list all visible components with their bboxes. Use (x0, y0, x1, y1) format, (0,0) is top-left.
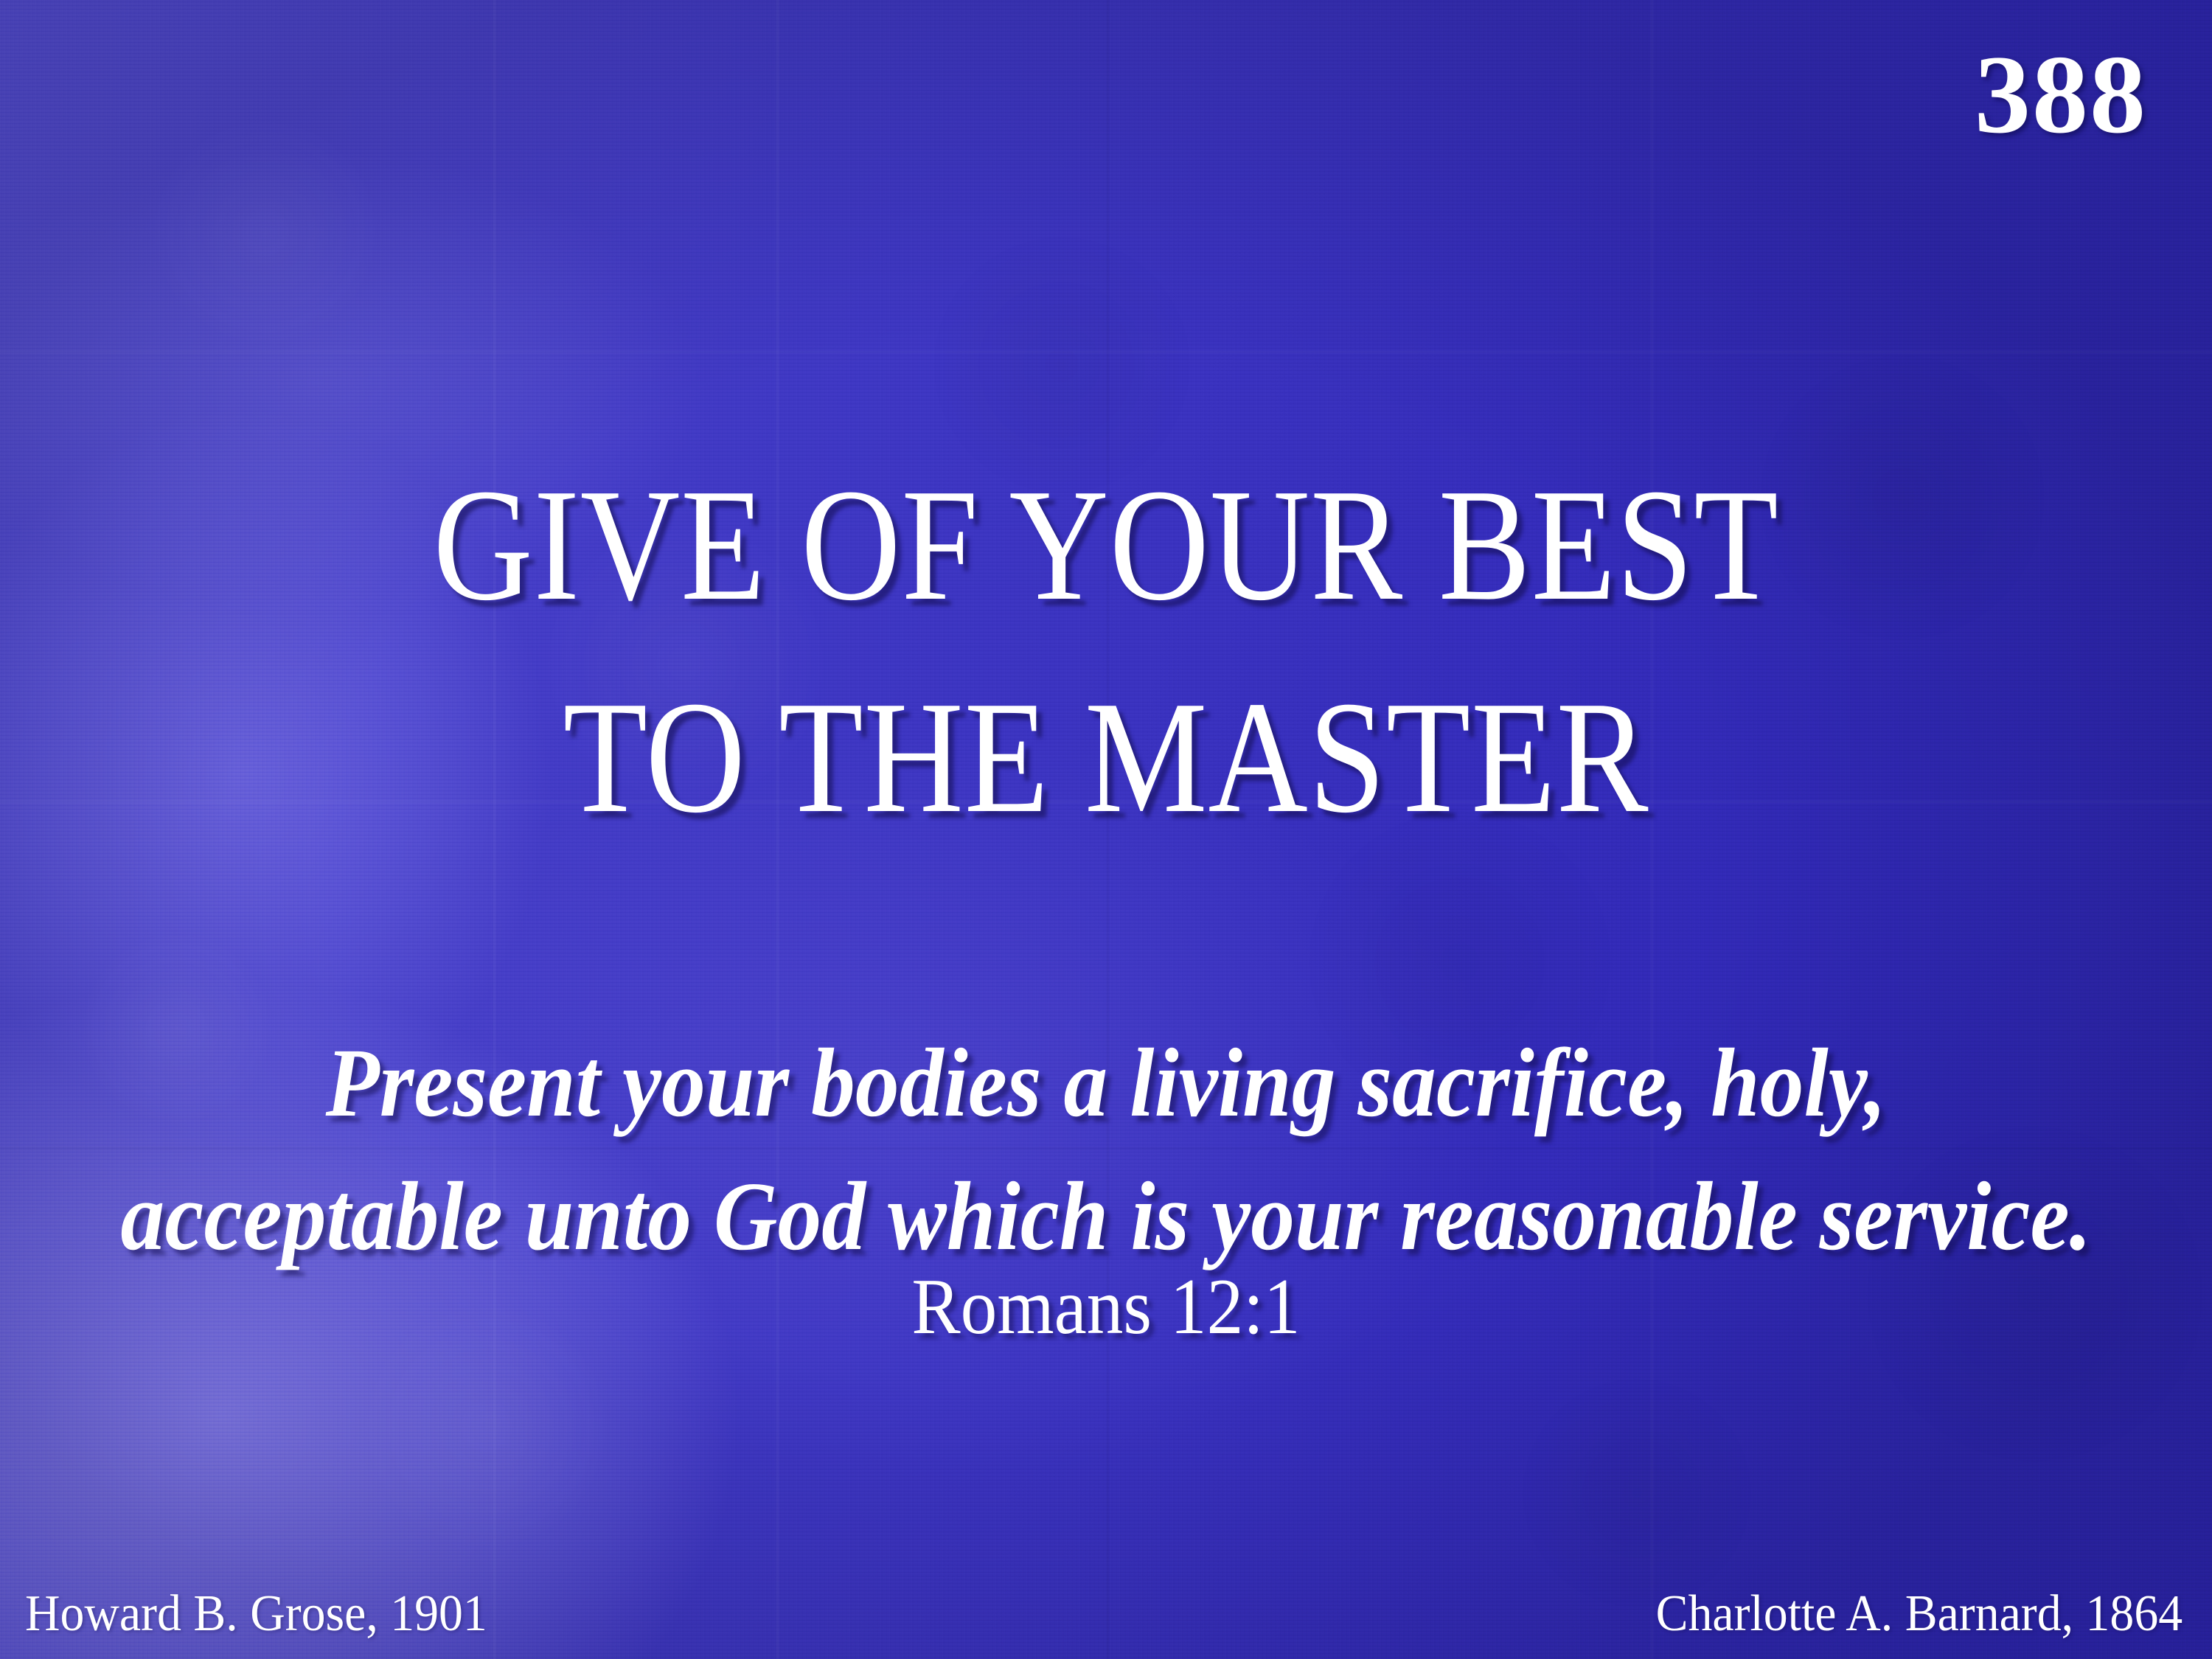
hymn-title-line-2: TO THE MASTER (155, 652, 2057, 864)
scripture-text: Present your bodies a living sacrifice, … (0, 1016, 2212, 1283)
hymn-number: 388 (1975, 38, 2147, 150)
credit-author: Howard B. Grose, 1901 (25, 1585, 487, 1643)
slide-content: 388 GIVE OF YOUR BEST TO THE MASTER Pres… (0, 0, 2212, 1659)
scripture-reference: Romans 12:1 (88, 1259, 2124, 1355)
credit-composer: Charlotte A. Barnard, 1864 (1655, 1585, 2183, 1643)
scripture-line-1: Present your bodies a living sacrifice, … (111, 1016, 2101, 1150)
hymn-title: GIVE OF YOUR BEST TO THE MASTER (0, 439, 2212, 864)
hymn-slide: 388 GIVE OF YOUR BEST TO THE MASTER Pres… (0, 0, 2212, 1659)
hymn-title-line-1: GIVE OF YOUR BEST (155, 439, 2057, 652)
